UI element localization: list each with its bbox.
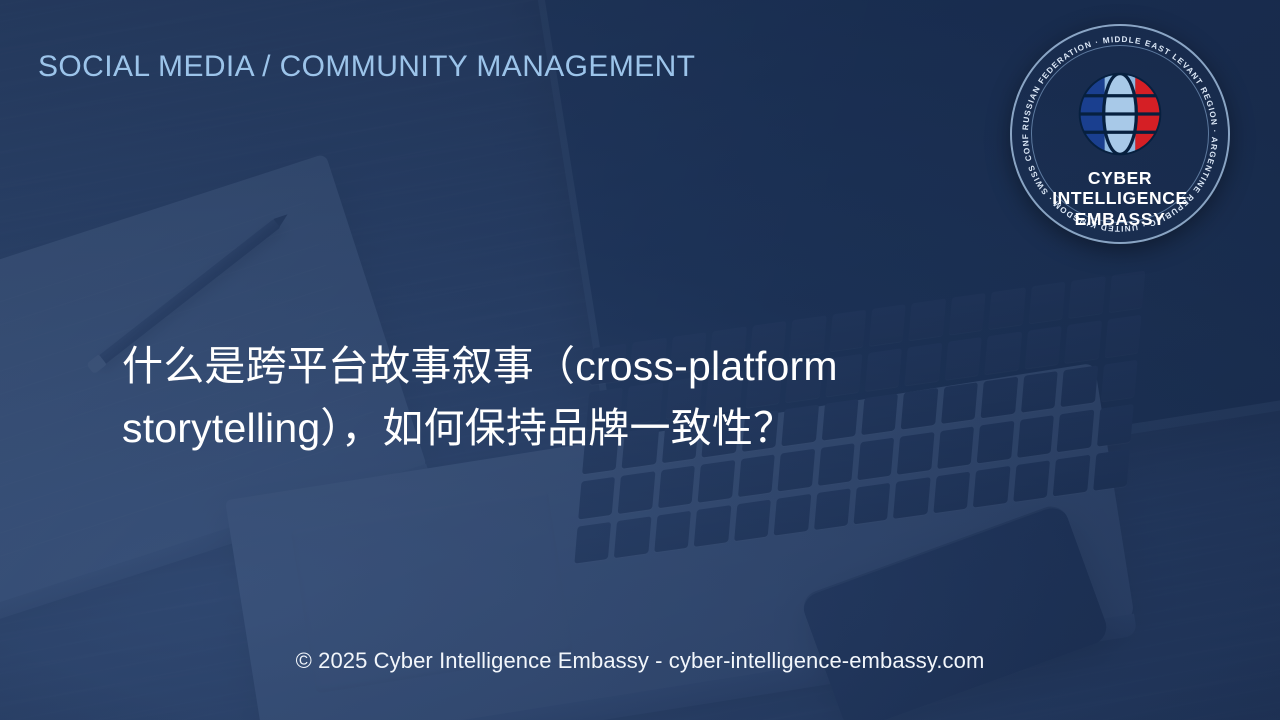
seal-name-line-3: EMBASSY — [1012, 209, 1228, 229]
footer-copyright: © 2025 Cyber Intelligence Embassy - cybe… — [0, 648, 1280, 674]
seal-name-line-2: INTELLIGENCE — [1012, 188, 1228, 208]
seal-name-line-1: CYBER — [1012, 168, 1228, 188]
slide-content: SOCIAL MEDIA / COMMUNITY MANAGEMENT 什么是跨… — [0, 0, 1280, 720]
seal-organization-name: CYBER INTELLIGENCE EMBASSY — [1012, 168, 1228, 229]
slide-headline: 什么是跨平台故事叙事（cross-platform storytelling），… — [122, 336, 912, 459]
globe-icon — [1072, 66, 1168, 162]
category-label: SOCIAL MEDIA / COMMUNITY MANAGEMENT — [38, 50, 695, 84]
cyber-intelligence-embassy-seal: UNITED STATES OF AMERICA · EUROPEAN UNIO… — [1012, 26, 1228, 242]
